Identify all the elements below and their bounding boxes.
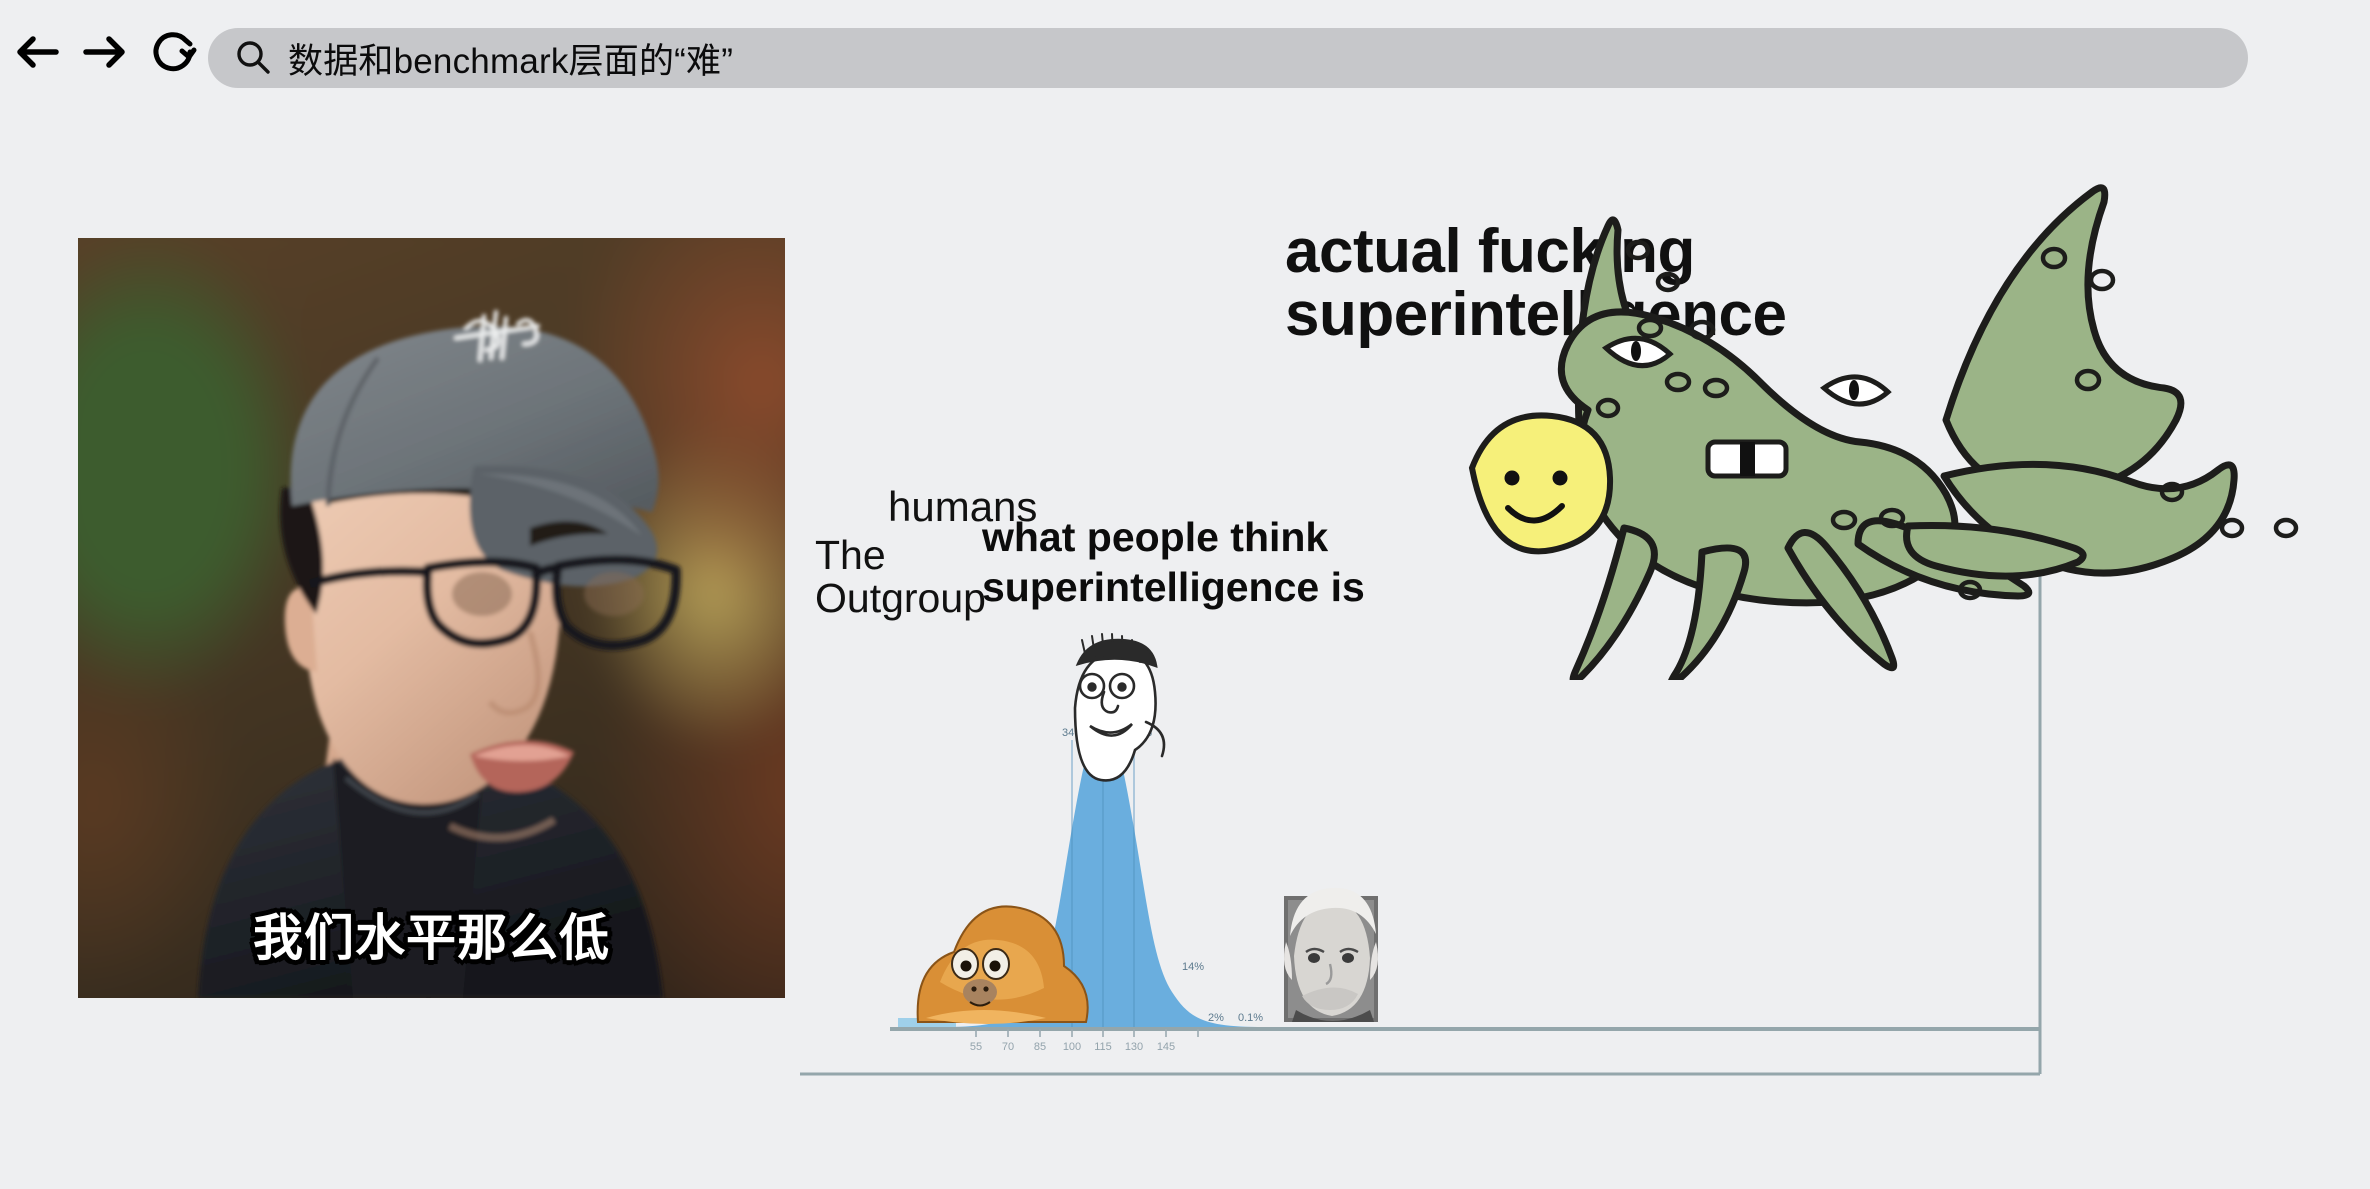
svg-text:70: 70 — [1002, 1041, 1014, 1053]
meme-illustration: actual fucking superintelligence AGI — [790, 120, 2370, 1070]
browser-toolbar: 数据和benchmark层面的“难” — [0, 0, 2370, 104]
arrow-right-icon — [79, 26, 131, 78]
video-thumbnail[interactable]: 我们水平那么低 AI 要我们数据干什么 那不就污染他的数据库吗 — [78, 238, 785, 998]
svg-text:85: 85 — [1034, 1041, 1046, 1053]
think-label-line-2: superintelligence is — [982, 562, 1365, 612]
think-label-line-1: what people think — [982, 512, 1365, 562]
svg-text:55: 55 — [970, 1041, 982, 1053]
arrow-left-icon — [11, 26, 63, 78]
search-icon — [230, 35, 276, 81]
what-people-think-label: what people think superintelligence is — [982, 512, 1365, 612]
forward-button[interactable] — [74, 21, 136, 83]
einstein-photo — [1284, 888, 1378, 1022]
reload-icon — [147, 26, 199, 78]
bell-curve-chart: 0.1% 2% 14% 34% 34% 14% 2% 0.1% 55 70 85… — [790, 540, 2090, 1080]
outgroup-label-line-2: Outgroup — [815, 577, 986, 620]
wojak-figure — [1075, 634, 1164, 780]
outgroup-label-line-1: The — [815, 534, 986, 577]
search-input-value[interactable]: 数据和benchmark层面的“难” — [288, 33, 733, 84]
svg-text:0.1%: 0.1% — [1238, 1012, 1263, 1024]
svg-text:130: 130 — [1125, 1041, 1143, 1053]
person-photo — [78, 238, 785, 998]
svg-text:115: 115 — [1094, 1041, 1112, 1053]
video-caption-line-1: 我们水平那么低 — [78, 913, 785, 963]
outgroup-label: The Outgroup — [815, 534, 986, 621]
svg-text:2%: 2% — [1208, 1012, 1224, 1024]
back-button[interactable] — [6, 21, 68, 83]
reload-button[interactable] — [142, 21, 204, 83]
svg-text:145: 145 — [1157, 1041, 1175, 1053]
svg-text:100: 100 — [1063, 1041, 1081, 1053]
search-bar[interactable]: 数据和benchmark层面的“难” — [208, 28, 2248, 88]
svg-text:14%: 14% — [1182, 961, 1204, 973]
